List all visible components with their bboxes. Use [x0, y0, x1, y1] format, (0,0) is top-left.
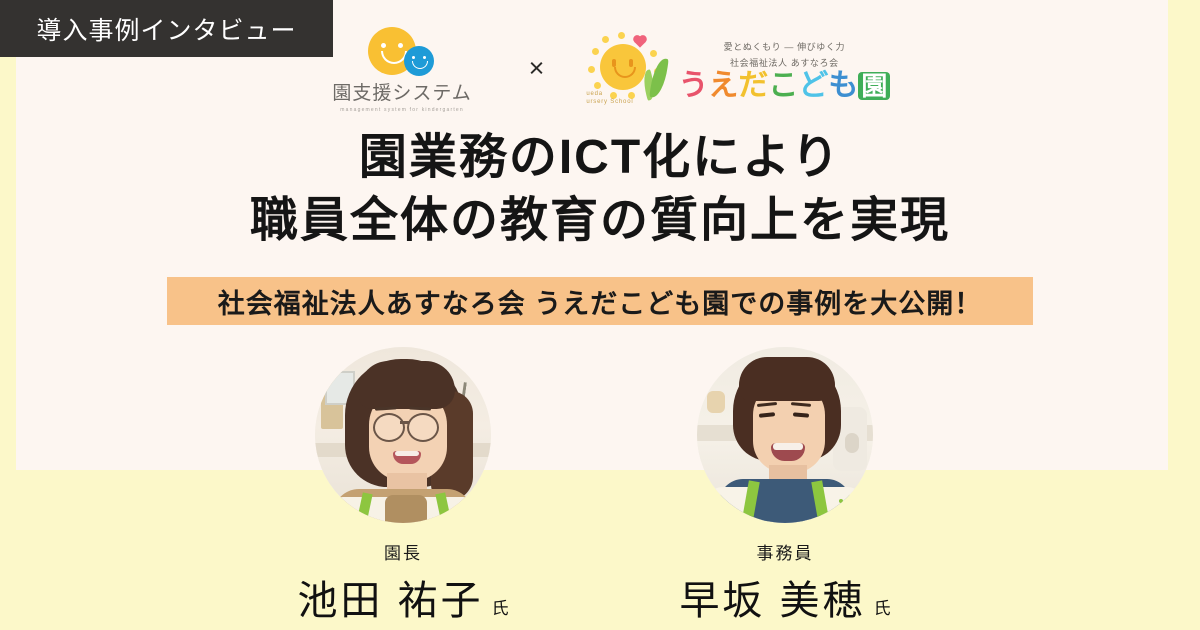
avatar [697, 347, 873, 523]
person-name-suffix: 氏 [874, 594, 891, 619]
person-card-1: 園長 池田 祐子 氏 [238, 347, 568, 626]
logo-ensien-system: 園支援システム management system for kindergart… [310, 27, 495, 113]
logo-left-tagline: management system for kindergarten [340, 107, 464, 113]
brand-char-boxed: 園 [858, 72, 890, 100]
person-name-row: 早坂 美穂 氏 [620, 568, 950, 626]
logo-right-icon-sub: ueda ursery School [586, 90, 633, 106]
category-badge-label: 導入事例インタビュー [36, 11, 296, 47]
logo-right-tagline-2: 社会福祉法人 あすなろ会 [730, 56, 839, 69]
headline-line-1: 園業務のICT化により [0, 126, 1200, 189]
category-badge: 導入事例インタビュー [0, 0, 333, 57]
avatar [315, 347, 491, 523]
brand-char-2: だ [738, 71, 768, 101]
person-name-row: 池田 祐子 氏 [238, 568, 568, 626]
person-role: 事務員 [620, 539, 950, 564]
brand-char-4: ど [798, 71, 828, 101]
subtitle-band: 社会福祉法人あすなろ会 うえだこども園での事例を大公開！ [167, 277, 1033, 325]
subtitle-band-text: 社会福祉法人あすなろ会 うえだこども園での事例を大公開！ [218, 282, 983, 321]
people-row: 園長 池田 祐子 氏 [0, 347, 1200, 630]
smiley-blue-icon [404, 46, 434, 76]
person-role: 園長 [238, 539, 568, 564]
logo-ueda-kodomoen: ueda ursery School 愛とぬくもり ― 伸びゆく力 社会福祉法人… [578, 30, 890, 110]
headline: 園業務のICT化により 職員全体の教育の質向上を実現 [0, 126, 1200, 253]
logo-right-tagline-1: 愛とぬくもり ― 伸びゆく力 [724, 40, 845, 53]
person-name-suffix: 氏 [492, 594, 509, 619]
sun-icon: ueda ursery School [578, 30, 674, 110]
person-card-2: 事務員 早坂 美穂 氏 [620, 347, 950, 626]
person-name: 池田 祐子 [297, 568, 483, 626]
sun-face-icon [600, 44, 646, 90]
headline-line-2: 職員全体の教育の質向上を実現 [0, 189, 1200, 252]
leaf-icon [650, 57, 669, 99]
brand-char-5: も [828, 71, 858, 101]
brand-char-1: え [708, 71, 738, 101]
logo-separator-icon: × [529, 55, 545, 86]
poster-stage: 導入事例インタビュー 園支援システム management system for… [0, 0, 1200, 630]
brand-char-0: う [678, 71, 708, 101]
logo-right-brand: う え だ こ ど も 園 [678, 71, 890, 101]
logo-right-text: 愛とぬくもり ― 伸びゆく力 社会福祉法人 あすなろ会 う え だ こ ど も … [678, 40, 890, 101]
heart-icon [635, 36, 646, 47]
person-name: 早坂 美穂 [679, 568, 865, 626]
brand-char-3: こ [768, 71, 798, 101]
logo-left-name: 園支援システム [332, 78, 471, 105]
smiley-faces-icon [354, 27, 450, 77]
